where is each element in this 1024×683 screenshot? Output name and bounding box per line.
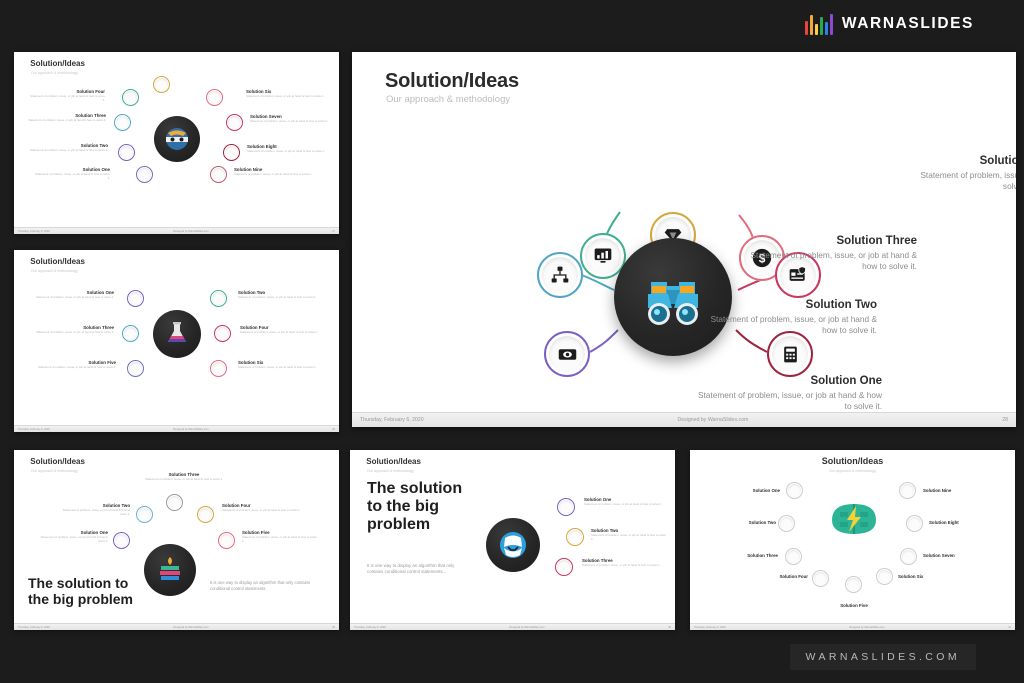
thumb5-node-two[interactable]	[778, 515, 795, 532]
thumb1-footer: Thursday, February 6, 2020 Designed by W…	[14, 227, 339, 234]
thumb2-footer: Thursday, February 6, 2020 Designed by W…	[14, 425, 339, 432]
footer-page-number: 29	[332, 626, 335, 629]
label-solution-one: Solution One Statement of problem, issue…	[697, 375, 882, 412]
thumb5-label-eight: Solution Eight	[929, 520, 987, 526]
brand-header: WARNASLIDES	[0, 0, 1024, 48]
thumb2-node-5[interactable]	[127, 360, 144, 377]
thumbnail-slide-5[interactable]: Solution/Ideas Our approach & methodolog…	[690, 450, 1015, 630]
footer-credit: Designed by WarnaSlides.com	[726, 626, 1008, 629]
thumb5-footer: Thursday, February 6, 2020 Designed by W…	[690, 623, 1015, 630]
footer-credit: Designed by WarnaSlides.com	[386, 626, 668, 629]
footer-date: Thursday, February 6, 2020	[18, 626, 50, 629]
thumb4-body: It is one way to display an algorithm th…	[367, 563, 467, 575]
thumb1-node-2[interactable]	[122, 89, 139, 106]
hierarchy-icon	[550, 265, 570, 285]
calculator-icon	[781, 345, 800, 364]
thumb5-node-nine[interactable]	[899, 482, 916, 499]
footer-page-number: 26	[332, 428, 335, 431]
logo-bars-icon	[805, 13, 833, 35]
thumb4-label-two: Solution Two Statement of problem, issue…	[591, 528, 667, 542]
thumb1-label-six: Solution Six Statement of problem, issue…	[246, 89, 324, 99]
main-slide-preview[interactable]: Solution/Ideas Our approach & methodolog…	[352, 52, 1016, 427]
thumb5-node-one[interactable]	[786, 482, 803, 499]
thumb4-node-two[interactable]	[566, 528, 584, 546]
thumb3-node-two[interactable]	[136, 506, 153, 523]
footer-date: Thursday, February 6, 2020	[354, 626, 386, 629]
thumb2-label-six: Solution Six Statement of problem, issue…	[238, 360, 322, 370]
thumbnail-slide-2[interactable]: Solution/Ideas Our approach & methodolog…	[14, 250, 339, 432]
thumb3-label-two: Solution Two Statement of problem, issue…	[56, 503, 130, 517]
thumb5-subtitle: Our approach & methodology	[690, 469, 1015, 473]
thumb1-node-7[interactable]	[223, 144, 240, 161]
thumb4-label-one: Solution One Statement of problem, issue…	[584, 497, 662, 507]
thumbnail-slide-3[interactable]: Solution/Ideas Our approach & methodolog…	[14, 450, 339, 630]
thumb2-label-five: Solution Five Statement of problem, issu…	[32, 360, 116, 370]
thumb2-label-three: Solution Three Statement of problem, iss…	[30, 325, 114, 335]
thumb3-label-five: Solution Five Statement of problem, issu…	[242, 530, 318, 544]
thumb1-hub	[154, 116, 200, 162]
thumb1-subtitle: Our approach & methodology	[31, 71, 78, 75]
thumb5-title: Solution/Ideas	[690, 456, 1015, 466]
thumb4-subtitle: Our approach & methodology	[367, 469, 414, 473]
thumb4-hub	[486, 518, 540, 572]
flask-icon	[162, 319, 192, 349]
warnaslides-logo: WARNASLIDES	[805, 13, 974, 35]
thumb1-label-one: Solution One Statement of problem, issue…	[34, 167, 110, 181]
thumb4-title: Solution/Ideas	[366, 457, 421, 466]
thumb4-node-one[interactable]	[557, 498, 575, 516]
thumb3-node-one[interactable]	[113, 532, 130, 549]
ninja-icon	[162, 124, 192, 154]
thumb5-node-five[interactable]	[845, 576, 862, 593]
thumb2-node-3[interactable]	[122, 325, 139, 342]
label-solution-four: Solution Four Statement of problem, issu…	[912, 155, 1016, 192]
thumb5-hub	[826, 498, 882, 542]
brand-name: WARNASLIDES	[842, 15, 974, 33]
footer-credit: Designed by WarnaSlides.com	[50, 230, 332, 233]
thumb3-body: It is one way to display an algorithm th…	[210, 580, 318, 592]
thumb4-label-three: Solution Three Statement of problem, iss…	[582, 558, 662, 568]
thumb1-label-three: Solution Three Statement of problem, iss…	[28, 113, 106, 123]
footer-page-number: 30	[668, 626, 671, 629]
thumb3-label-four: Solution Four Statement of problem, issu…	[222, 503, 300, 513]
footer-website-url: WARNASLIDES.COM	[790, 644, 976, 670]
thumb2-node-2[interactable]	[210, 290, 227, 307]
central-hub	[614, 238, 732, 356]
thumb2-label-two: Solution Two Statement of problem, issue…	[238, 290, 322, 300]
thumb3-label-three: Solution Three Statement of problem, iss…	[136, 472, 232, 482]
footer-date: Thursday, February 6, 2020	[18, 230, 50, 233]
thumb2-hub	[153, 310, 201, 358]
thumb3-subtitle: Our approach & methodology	[31, 469, 78, 473]
thumb5-label-nine: Solution Nine	[923, 488, 979, 494]
books-candle-icon	[154, 554, 186, 586]
thumb3-node-four[interactable]	[197, 506, 214, 523]
thumb1-label-eight: Solution Eight Statement of problem, iss…	[247, 144, 327, 154]
node-solution-seven[interactable]	[767, 331, 813, 377]
thumb5-node-seven[interactable]	[900, 548, 917, 565]
thumb5-label-one: Solution One	[728, 488, 780, 494]
thumb5-node-six[interactable]	[876, 568, 893, 585]
stormtrooper-icon	[496, 528, 530, 562]
thumb4-headline: The solution to the big problem	[367, 480, 477, 534]
footer-date: Thursday, February 6, 2020	[18, 428, 50, 431]
footer-page-number: 27	[332, 230, 335, 233]
thumb1-node-5[interactable]	[226, 114, 243, 131]
thumb3-hub	[144, 544, 196, 596]
label-solution-two: Solution Two Statement of problem, issue…	[697, 299, 877, 336]
thumb5-label-seven: Solution Seven	[923, 553, 985, 559]
thumb1-node-8[interactable]	[136, 166, 153, 183]
thumb1-label-seven: Solution Seven Statement of problem, iss…	[250, 114, 330, 124]
node-solution-two[interactable]	[537, 252, 583, 298]
thumb2-label-one: Solution One Statement of problem, issue…	[32, 290, 114, 300]
thumb5-label-five: Solution Five	[823, 603, 885, 609]
thumbnail-slide-4[interactable]: Solution/Ideas Our approach & methodolog…	[350, 450, 675, 630]
node-solution-one[interactable]	[544, 331, 590, 377]
thumb5-node-three[interactable]	[785, 548, 802, 565]
thumb5-label-four: Solution Four	[752, 574, 808, 580]
thumb2-node-1[interactable]	[127, 290, 144, 307]
thumb1-label-two: Solution Two Statement of problem, issue…	[28, 143, 108, 153]
footer-page-number: 31	[1008, 626, 1011, 629]
thumb5-node-eight[interactable]	[906, 515, 923, 532]
thumb1-node-6[interactable]	[118, 144, 135, 161]
thumb1-node-1[interactable]	[153, 76, 170, 93]
thumb5-node-four[interactable]	[812, 570, 829, 587]
thumb2-label-four: Solution Four Statement of problem, issu…	[240, 325, 324, 335]
thumb1-label-four: Solution Four Statement of problem, issu…	[30, 89, 105, 103]
thumb4-footer: Thursday, February 6, 2020 Designed by W…	[350, 623, 675, 630]
chart-monitor-icon	[593, 246, 613, 266]
thumbnail-slide-1[interactable]: Solution/Ideas Our approach & methodolog…	[14, 52, 339, 234]
bottom-footer: WARNASLIDES.COM	[0, 631, 1024, 683]
thumb1-label-nine: Solution Nine Statement of problem, issu…	[234, 167, 314, 177]
thumb3-title: Solution/Ideas	[30, 457, 85, 466]
footer-credit: Designed by WarnaSlides.com	[50, 626, 332, 629]
thumb4-node-three[interactable]	[555, 558, 573, 576]
thumb2-node-6[interactable]	[210, 360, 227, 377]
thumb3-node-three[interactable]	[166, 494, 183, 511]
thumb1-node-4[interactable]	[114, 114, 131, 131]
label-solution-three: Solution Three Statement of problem, iss…	[742, 235, 917, 272]
brain-lightning-icon	[826, 498, 882, 542]
thumb1-title: Solution/Ideas	[30, 59, 85, 68]
thumb1-node-9[interactable]	[210, 166, 227, 183]
thumb3-node-five[interactable]	[218, 532, 235, 549]
thumb1-node-3[interactable]	[206, 89, 223, 106]
footer-date: Thursday, February 6, 2020	[694, 626, 726, 629]
thumb2-title: Solution/Ideas	[30, 257, 85, 266]
cash-icon	[557, 344, 578, 365]
thumb2-subtitle: Our approach & methodology	[31, 269, 78, 273]
thumb5-label-three: Solution Three	[720, 553, 778, 559]
thumb5-label-six: Solution Six	[898, 574, 954, 580]
thumb3-footer: Thursday, February 6, 2020 Designed by W…	[14, 623, 339, 630]
thumb3-headline: The solution to the big problem	[28, 576, 140, 607]
thumb2-node-4[interactable]	[214, 325, 231, 342]
thumb5-label-two: Solution Two	[724, 520, 776, 526]
footer-credit: Designed by WarnaSlides.com	[50, 428, 332, 431]
thumb3-label-one: Solution One Statement of problem, issue…	[40, 530, 108, 544]
